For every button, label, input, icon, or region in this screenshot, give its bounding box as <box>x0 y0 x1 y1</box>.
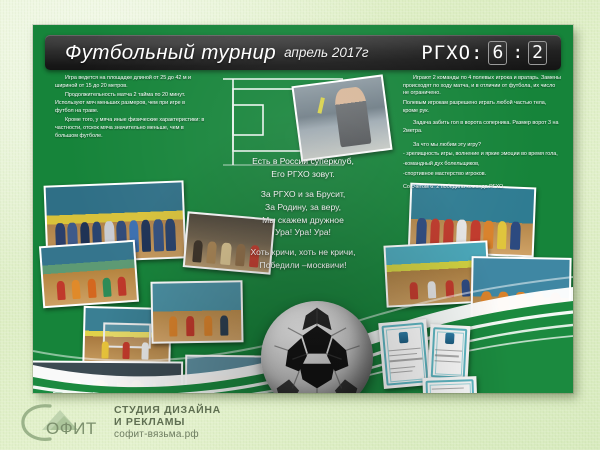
rules-bullet: -командный дух болельщиков, <box>403 161 561 169</box>
photo-portrait-whistle <box>291 74 392 161</box>
soccer-ball <box>261 301 373 393</box>
scoreboard-home-score: 6 <box>488 41 507 65</box>
scoreboard-away-score: 2 <box>528 41 547 65</box>
certificate-on-ribbon <box>422 376 477 393</box>
poster: Футбольный турнир апрель 2017г РГХО: 6 :… <box>33 25 573 393</box>
poem-line: Его РГХО зовут. <box>193 168 413 181</box>
poem-line: Есть в России суперклуб, <box>193 155 413 168</box>
poem-stanza: Есть в России суперклуб, Его РГХО зовут. <box>193 155 413 181</box>
page-title: Футбольный турнир <box>65 41 276 65</box>
rules-paragraph: Задача забить гол в ворота соперника. Ра… <box>403 120 561 135</box>
poem-line: Победили –москвичи! <box>193 259 413 272</box>
poem-line: Мы скажем дружное <box>193 214 413 227</box>
scoreboard: РГХО: 6 : 2 <box>421 41 547 65</box>
rules-bullet: -спортивное мастерство игроков. <box>403 171 561 179</box>
brand-line-2: И РЕКЛАМЫ <box>114 416 221 428</box>
poem-line: За РГХО и за Брусит, <box>193 188 413 201</box>
certificate-diploma-small <box>428 324 471 382</box>
poem-block: Есть в России суперклуб, Его РГХО зовут.… <box>193 155 413 272</box>
rules-bullet: - зрелищность игры, волнение и яркие эмо… <box>403 151 561 159</box>
page-subtitle: апрель 2017г <box>284 45 369 60</box>
brand-line-1: СТУДИЯ ДИЗАЙНА <box>114 404 221 416</box>
rules-paragraph: Игра ведется на площадке длиной от 25 до… <box>55 75 205 90</box>
brand-text-block: СТУДИЯ ДИЗАЙНА И РЕКЛАМЫ софит-вязьма.рф <box>114 404 221 441</box>
rules-paragraph: Играют 2 команды по 4 полевых игрока и в… <box>403 75 561 98</box>
sofit-logo-icon: ОФИТ <box>20 400 106 444</box>
poem-stanza: За РГХО и за Брусит, За Родину, за веру,… <box>193 188 413 240</box>
brand-website-url: софит-вязьма.рф <box>114 429 221 440</box>
scoreboard-team-label: РГХО: <box>421 42 483 64</box>
poem-stanza: Хоть кричи, хоть не кричи, Победили –мос… <box>193 246 413 272</box>
rules-paragraph: Продолжительность матча 2 тайма по 20 ми… <box>55 92 205 115</box>
poem-line: За Родину, за веру, <box>193 201 413 214</box>
final-score-text: Со счетом 6: 2 победила команда РГХО. <box>403 184 561 192</box>
brand-footer: ОФИТ СТУДИЯ ДИЗАЙНА И РЕКЛАМЫ софит-вязь… <box>20 398 320 446</box>
rules-paragraph: Полевым игрокам разрешено играть любой ч… <box>403 100 561 115</box>
poem-line: Ура! Ура! Ура! <box>193 226 413 239</box>
rules-question: За что мы любим эту игру? <box>403 142 561 150</box>
poem-line: Хоть кричи, хоть не кричи, <box>193 246 413 259</box>
rules-paragraph: Кроме того, у мяча иные физические харак… <box>55 117 205 140</box>
poster-header: Футбольный турнир апрель 2017г РГХО: 6 :… <box>45 35 561 70</box>
rules-text-left: Игра ведется на площадке длиной от 25 до… <box>55 75 205 142</box>
scoreboard-separator: : <box>512 42 523 63</box>
svg-text:ОФИТ: ОФИТ <box>46 419 97 438</box>
rules-text-right: Играют 2 команды по 4 полевых игрока и в… <box>403 75 561 194</box>
